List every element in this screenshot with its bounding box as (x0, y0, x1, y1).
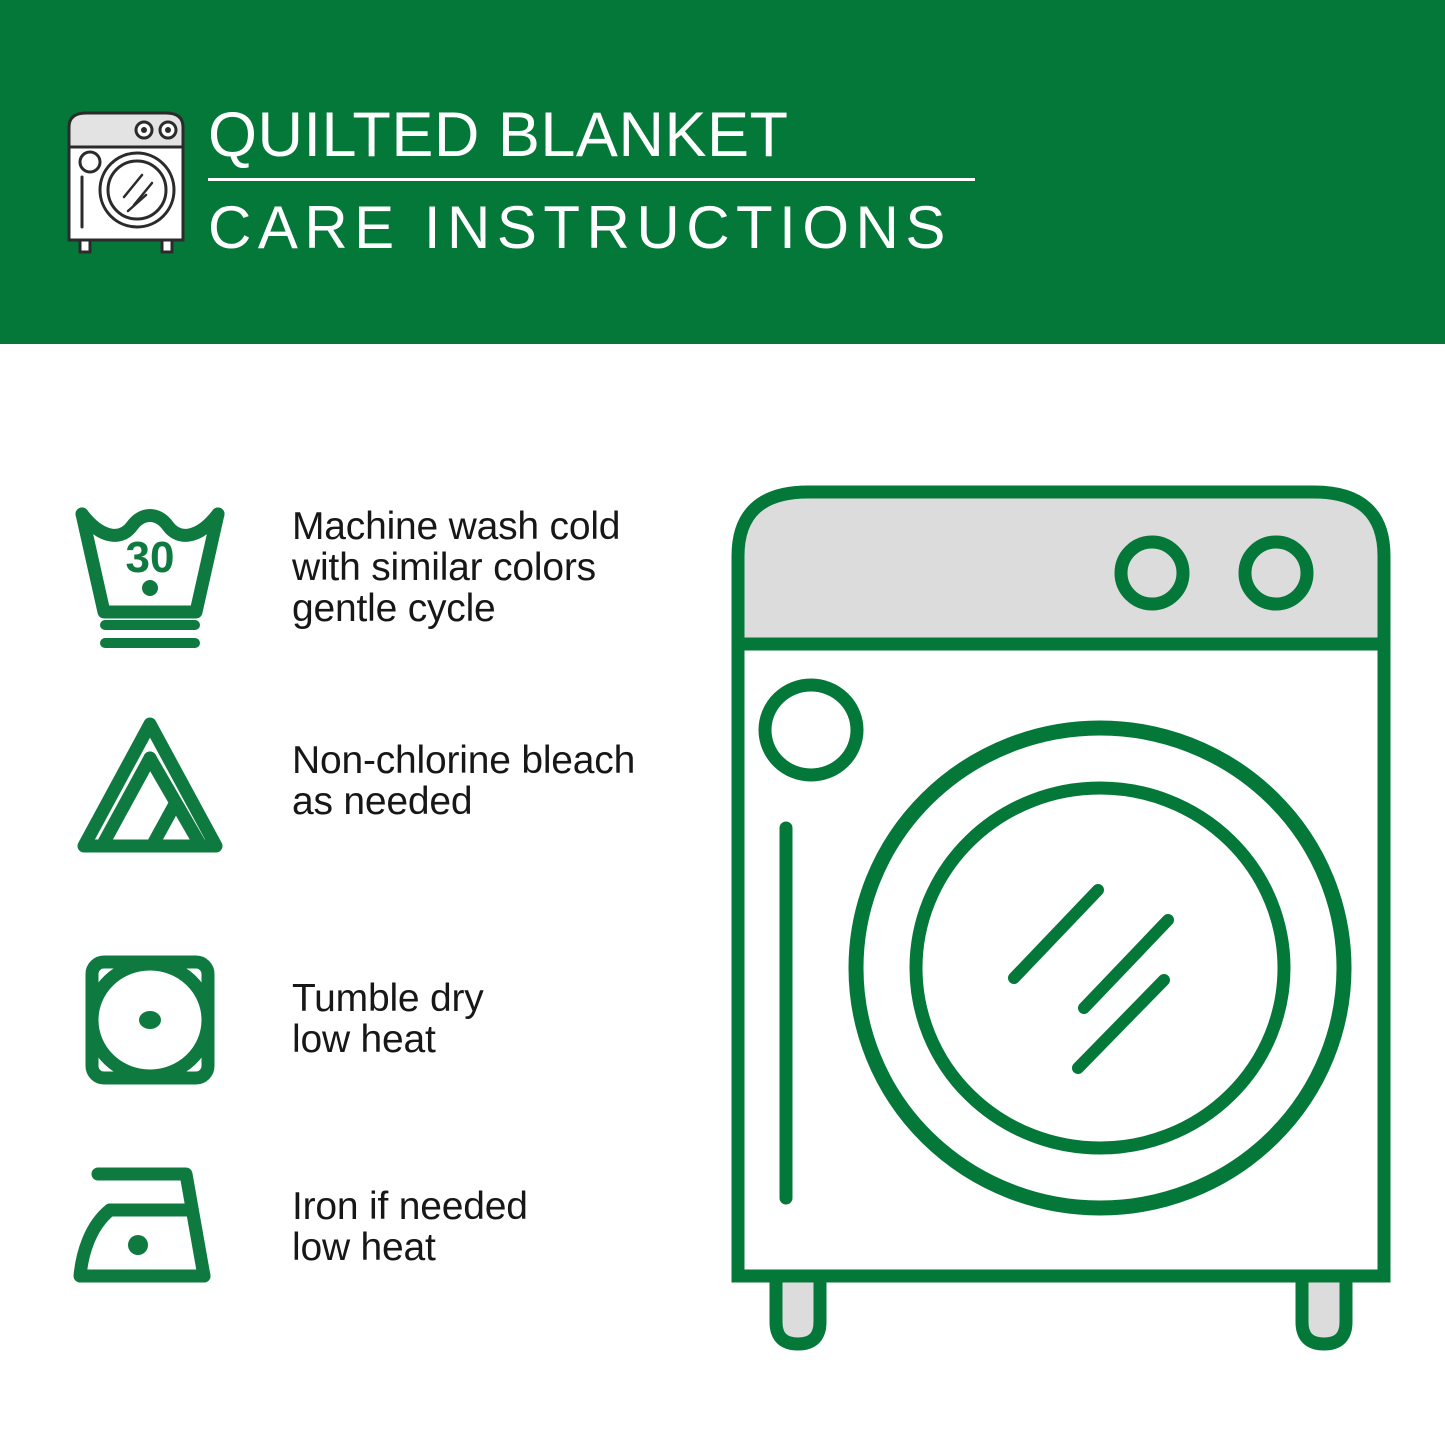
care-text-bleach: Non-chlorine bleach as needed (292, 706, 635, 822)
title-divider (208, 178, 975, 181)
care-row-bleach: Non-chlorine bleach as needed (70, 706, 690, 866)
wash-tub-30-icon: 30 (70, 492, 230, 652)
washing-machine-illustration (716, 468, 1406, 1358)
care-text-dry: Tumble dry low heat (292, 940, 484, 1060)
care-row-wash: 30 Machine wash cold with similar colors… (70, 492, 690, 652)
header-title-block: QUILTED BLANKET CARE INSTRUCTIONS (208, 100, 998, 261)
page-subtitle: CARE INSTRUCTIONS (208, 195, 998, 261)
care-text-line: low heat (292, 1227, 528, 1268)
iron-icon (70, 1148, 230, 1308)
care-text-line: as needed (292, 781, 635, 822)
wash-temperature-label: 30 (126, 533, 175, 582)
care-text-line: gentle cycle (292, 588, 620, 629)
care-text-iron: Iron if needed low heat (292, 1148, 528, 1268)
page-title: QUILTED BLANKET (208, 100, 998, 170)
care-text-line: with similar colors (292, 547, 620, 588)
care-text-line: Non-chlorine bleach (292, 740, 635, 781)
header-band: QUILTED BLANKET CARE INSTRUCTIONS (0, 0, 1445, 344)
care-text-line: Tumble dry (292, 978, 484, 1019)
tumble-dry-icon (70, 940, 230, 1100)
care-text-line: Iron if needed (292, 1186, 528, 1227)
care-text-wash: Machine wash cold with similar colors ge… (292, 492, 620, 629)
care-instructions-page: QUILTED BLANKET CARE INSTRUCTIONS (0, 0, 1445, 1445)
bleach-triangle-icon (70, 706, 230, 866)
care-text-line: Machine wash cold (292, 506, 620, 547)
care-text-line: low heat (292, 1019, 484, 1060)
care-row-dry: Tumble dry low heat (70, 940, 690, 1100)
care-row-iron: Iron if needed low heat (70, 1148, 690, 1308)
washing-machine-logo-icon (62, 105, 190, 255)
